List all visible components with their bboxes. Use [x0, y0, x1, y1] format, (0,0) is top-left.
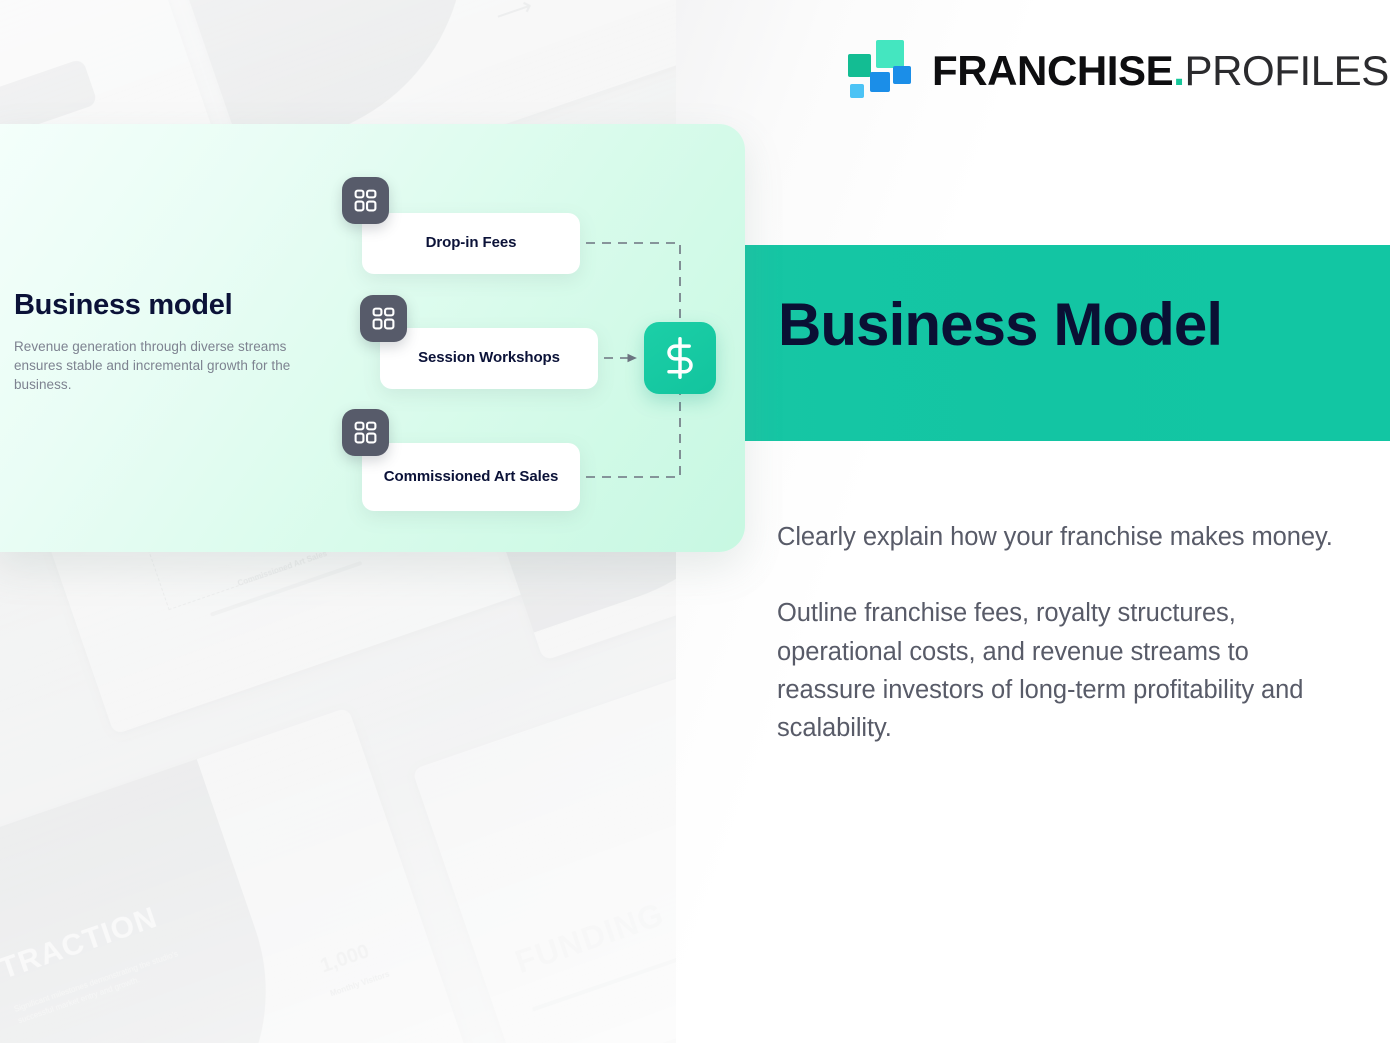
collage-number: 1,000 — [318, 940, 373, 978]
grid-squares-icon — [342, 177, 389, 224]
brand-logo[interactable]: FRANCHISE.PROFILES — [848, 40, 1389, 102]
revenue-node-label: Drop-in Fees — [416, 234, 527, 252]
logo-word-profiles: PROFILES — [1184, 47, 1388, 94]
page-title: Business Model — [778, 295, 1222, 355]
revenue-node-commissioned-art-sales[interactable]: Commissioned Art Sales — [362, 443, 580, 511]
revenue-node-drop-in-fees[interactable]: Drop-in Fees — [362, 213, 580, 274]
section-banner: Business Model — [745, 245, 1390, 441]
collage-slide-funding: FUNDING — [412, 626, 676, 1043]
revenue-node-label: Session Workshops — [408, 349, 570, 367]
business-model-card: Business model Revenue generation throug… — [0, 124, 745, 552]
revenue-node-label: Commissioned Art Sales — [374, 468, 569, 486]
collage-slide-title: FUNDING — [511, 897, 669, 980]
logo-wordmark: FRANCHISE.PROFILES — [932, 50, 1389, 92]
grid-squares-icon — [342, 409, 389, 456]
logo-squares-icon — [848, 40, 910, 102]
grid-squares-icon — [360, 295, 407, 342]
revenue-node-session-workshops[interactable]: Session Workshops — [380, 328, 598, 389]
body-copy: Clearly explain how your franchise makes… — [777, 518, 1352, 747]
logo-word-franchise: FRANCHISE — [932, 47, 1173, 94]
body-paragraph-2: Outline franchise fees, royalty structur… — [777, 594, 1352, 747]
logo-dot: . — [1173, 47, 1184, 94]
body-paragraph-1: Clearly explain how your franchise makes… — [777, 518, 1352, 556]
dollar-sign-icon — [644, 322, 716, 394]
collage-slide-traction: TRACTION Significant milestones demonstr… — [0, 707, 478, 1043]
revenue-streams-diagram: Drop-in Fees Session Workshops Commi — [0, 124, 745, 552]
